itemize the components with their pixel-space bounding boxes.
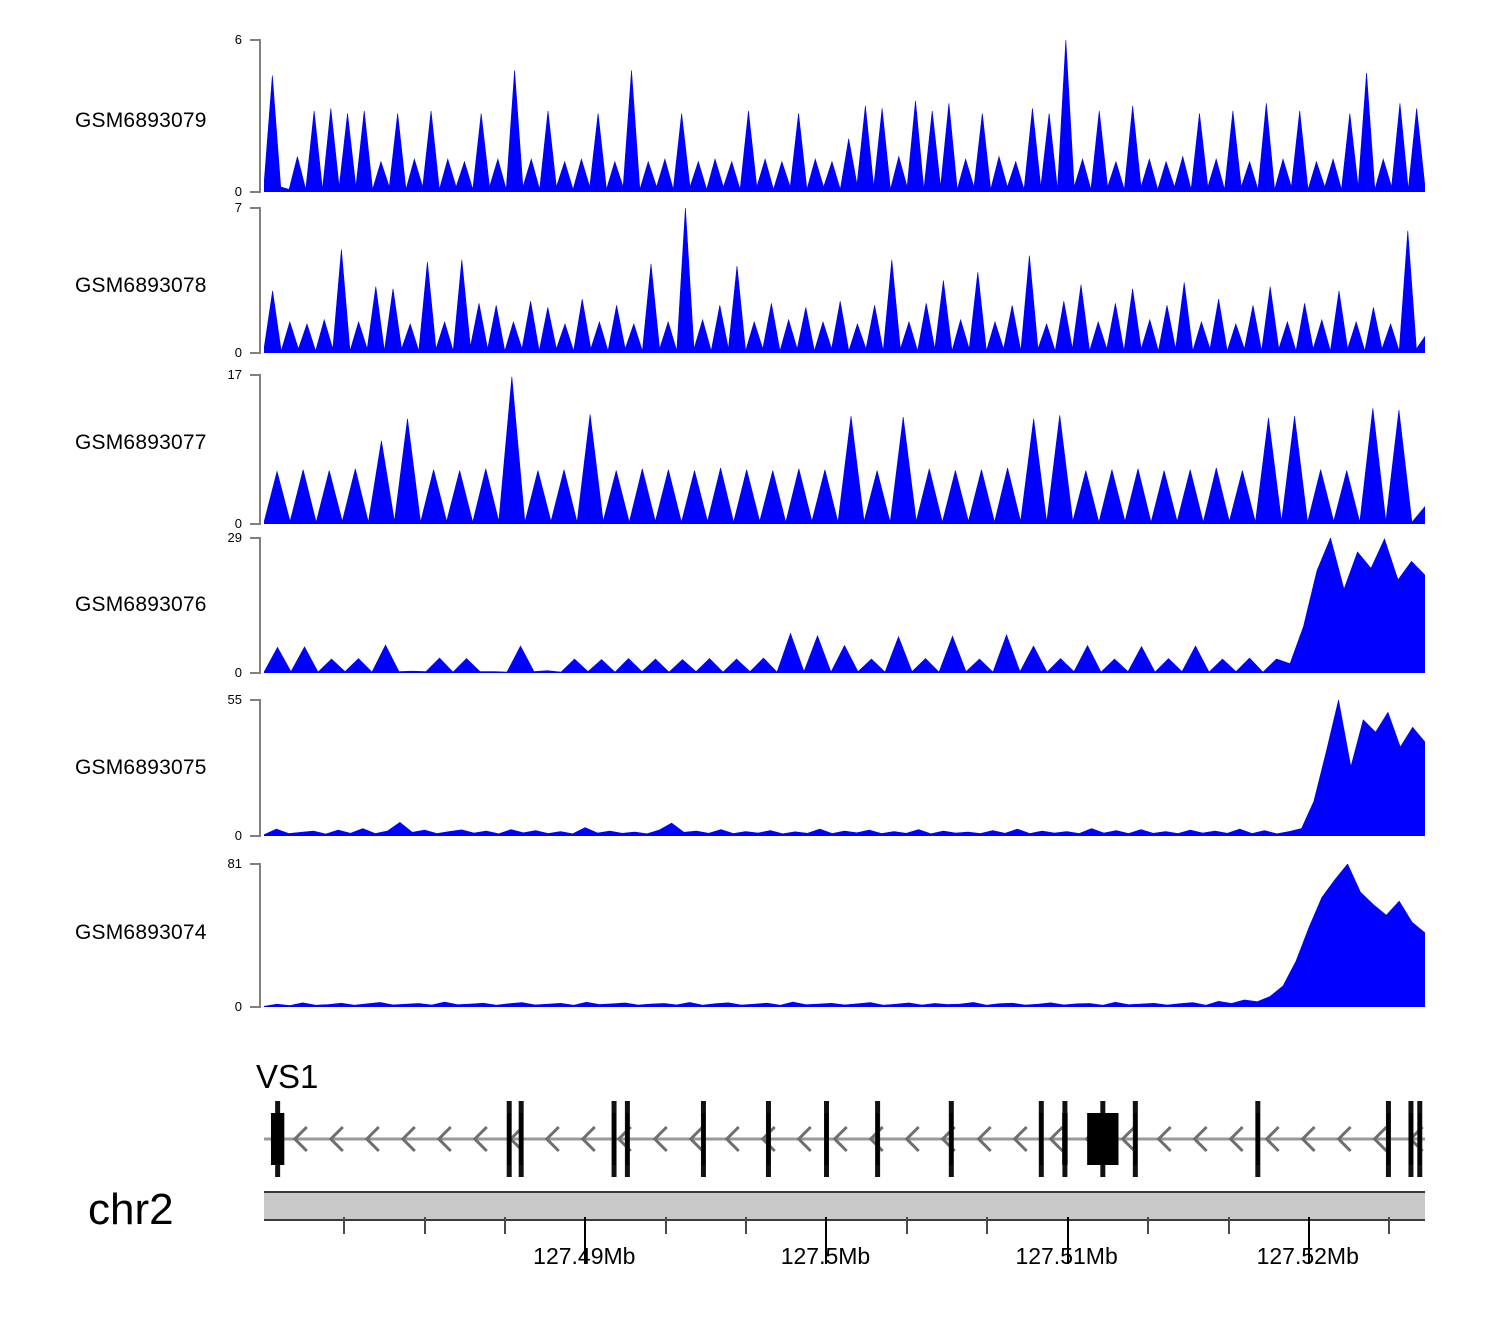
- exon-6: [702, 1113, 706, 1165]
- y-tick-min-GSM6893077: [250, 523, 261, 525]
- ruler-minor-tick-8: [1147, 1217, 1149, 1234]
- exon-16: [1387, 1113, 1391, 1165]
- exon-9: [876, 1113, 880, 1165]
- y-tick-min-GSM6893078: [250, 352, 261, 354]
- y-tick-max-GSM6893079: [250, 39, 261, 41]
- y-tick-min-GSM6893075: [250, 835, 261, 837]
- y-tick-min-GSM6893074: [250, 1006, 261, 1008]
- coverage-plot-GSM6893079[interactable]: [264, 40, 1425, 192]
- y-tick-label-max-GSM6893074: 81: [182, 857, 242, 870]
- coverage-plot-GSM6893077[interactable]: [264, 375, 1425, 524]
- exon-3: [519, 1113, 523, 1165]
- y-axis-spine-GSM6893077: [259, 375, 261, 524]
- y-axis-spine-GSM6893076: [259, 538, 261, 673]
- y-tick-label-max-GSM6893078: 7: [182, 201, 242, 214]
- track-label-GSM6893078: GSM6893078: [75, 274, 207, 298]
- y-tick-label-max-GSM6893076: 29: [182, 531, 242, 544]
- coverage-plot-GSM6893076[interactable]: [264, 538, 1425, 673]
- track-label-GSM6893079: GSM6893079: [75, 109, 207, 133]
- y-tick-max-GSM6893076: [250, 537, 261, 539]
- exon-18: [1418, 1113, 1422, 1165]
- ruler-minor-tick-4: [665, 1217, 667, 1234]
- coverage-plot-GSM6893075[interactable]: [264, 700, 1425, 836]
- exon-2: [507, 1113, 511, 1165]
- ruler-label-3: 127.51Mb: [1015, 1243, 1117, 1270]
- ruler-label-4: 127.52Mb: [1257, 1243, 1359, 1270]
- y-tick-label-min-GSM6893078: 0: [182, 346, 242, 359]
- y-axis-spine-GSM6893075: [259, 700, 261, 836]
- y-tick-label-max-GSM6893077: 17: [182, 368, 242, 381]
- y-tick-label-max-GSM6893075: 55: [182, 693, 242, 706]
- exon-15: [1256, 1113, 1260, 1165]
- ruler-label-1: 127.49Mb: [533, 1243, 635, 1270]
- exon-12: [1062, 1113, 1067, 1165]
- coverage-plot-GSM6893074[interactable]: [264, 864, 1425, 1007]
- exon-4: [612, 1113, 616, 1165]
- ruler-minor-tick-10: [1388, 1217, 1390, 1234]
- track-label-GSM6893076: GSM6893076: [75, 593, 207, 617]
- ruler-label-2: 127.5Mb: [781, 1243, 871, 1270]
- y-tick-label-min-GSM6893079: 0: [182, 185, 242, 198]
- y-tick-max-GSM6893074: [250, 863, 261, 865]
- ruler-minor-tick-2: [424, 1217, 426, 1234]
- gene-model[interactable]: [264, 1095, 1425, 1180]
- y-tick-min-GSM6893076: [250, 672, 261, 674]
- y-tick-label-max-GSM6893079: 6: [182, 33, 242, 46]
- y-tick-label-min-GSM6893076: 0: [182, 666, 242, 679]
- exon-14: [1134, 1113, 1138, 1165]
- y-tick-max-GSM6893077: [250, 374, 261, 376]
- coordinate-ruler: [264, 1217, 1425, 1243]
- exon-11: [1040, 1113, 1044, 1165]
- y-tick-label-min-GSM6893075: 0: [182, 829, 242, 842]
- track-label-GSM6893075: GSM6893075: [75, 756, 207, 780]
- y-axis-spine-GSM6893078: [259, 208, 261, 353]
- ruler-minor-tick-1: [343, 1217, 345, 1234]
- y-tick-label-min-GSM6893077: 0: [182, 517, 242, 530]
- ruler-minor-tick-3: [504, 1217, 506, 1234]
- ruler-minor-tick-5: [745, 1217, 747, 1234]
- track-label-GSM6893074: GSM6893074: [75, 921, 207, 945]
- genome-browser: GSM689307960GSM689307870GSM6893077170GSM…: [0, 0, 1500, 1320]
- exon-10: [950, 1113, 954, 1165]
- y-tick-label-min-GSM6893074: 0: [182, 1000, 242, 1013]
- y-tick-min-GSM6893079: [250, 191, 261, 193]
- exon-8: [825, 1113, 829, 1165]
- y-axis-spine-GSM6893079: [259, 40, 261, 192]
- y-axis-spine-GSM6893074: [259, 864, 261, 1007]
- exon-7: [767, 1113, 771, 1165]
- exon-17: [1409, 1113, 1413, 1165]
- ruler-minor-tick-9: [1228, 1217, 1230, 1234]
- y-tick-max-GSM6893078: [250, 207, 261, 209]
- track-label-GSM6893077: GSM6893077: [75, 431, 207, 455]
- ruler-minor-tick-7: [986, 1217, 988, 1234]
- y-tick-max-GSM6893075: [250, 699, 261, 701]
- exon-1: [271, 1113, 284, 1165]
- exon-5: [626, 1113, 630, 1165]
- ruler-minor-tick-6: [906, 1217, 908, 1234]
- gene-name-label: VS1: [256, 1058, 318, 1096]
- coverage-plot-GSM6893078[interactable]: [264, 208, 1425, 353]
- chromosome-label: chr2: [88, 1185, 174, 1235]
- exon-13: [1087, 1113, 1118, 1165]
